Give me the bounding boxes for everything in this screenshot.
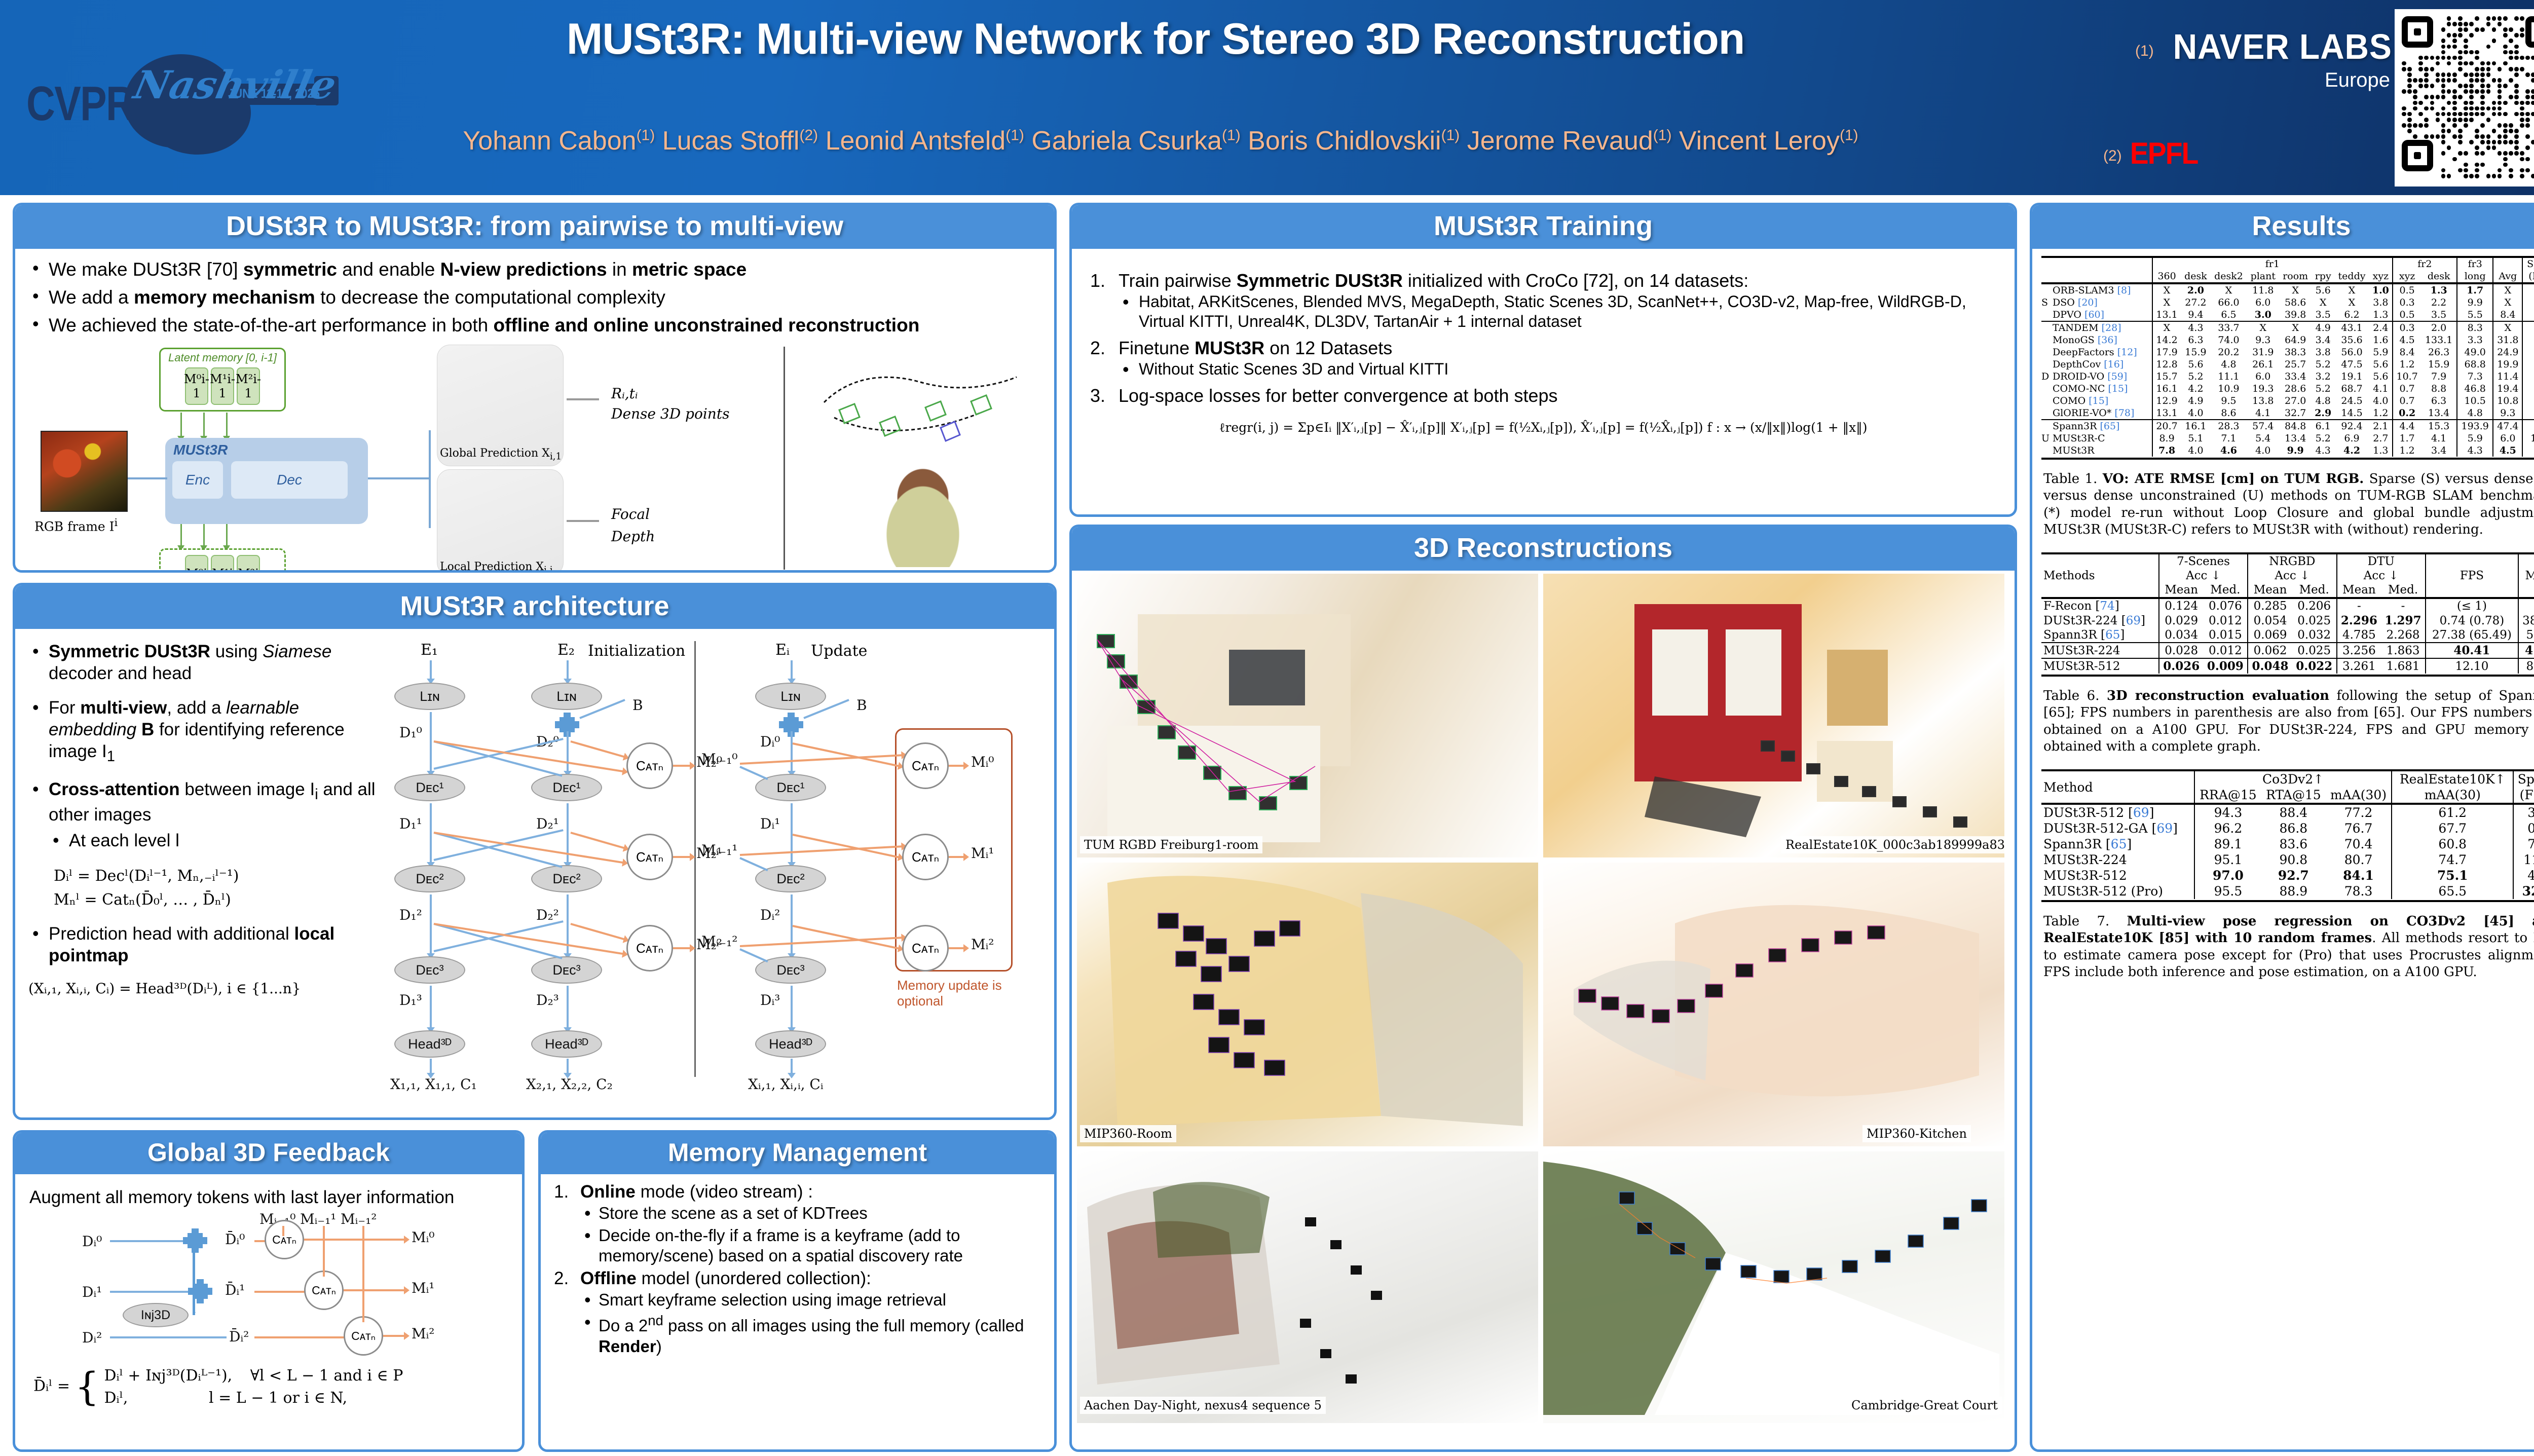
column-header: long xyxy=(2457,270,2493,283)
label-d-in-1: Dᵢ¹ xyxy=(82,1284,102,1300)
label-embedding-b: B xyxy=(632,697,643,714)
column-header-method: Method xyxy=(2041,770,2194,804)
memory-vertical-feed-2 xyxy=(362,1226,364,1322)
group-tag xyxy=(2041,358,2049,370)
sub-list: Without Static Scenes 3D and Virtual KIT… xyxy=(1119,359,1999,379)
table-cell: 11.1 xyxy=(2522,432,2534,444)
table-cell: 6.0 xyxy=(2247,296,2279,309)
local-pred-out-arrow xyxy=(567,520,599,522)
table-cell: 19.9 xyxy=(2493,358,2522,370)
table-cell: 3.2 xyxy=(2513,804,2534,820)
memory-out-arrow xyxy=(226,524,228,546)
group-tag: D xyxy=(2041,370,2049,383)
label-m-in-2: Mᵢ₋₁² xyxy=(341,1211,377,1227)
edge-head-out xyxy=(791,1059,793,1074)
column-header: (FPS) xyxy=(2522,270,2534,283)
table-cell: 4.0 xyxy=(2247,444,2279,457)
column-header: rpy xyxy=(2312,270,2334,283)
memory-cell: M¹i xyxy=(211,555,234,573)
affiliation-1-marker: (1) xyxy=(2135,43,2154,59)
list-item: We add a memory mechanism to decrease th… xyxy=(28,286,1041,309)
panel-must3r-architecture: MUSt3R architecture Symmetric DUSt3R usi… xyxy=(13,583,1057,1120)
subcol-header: RRA@15 xyxy=(2194,787,2261,804)
panel-title-global-feedback: Global 3D Feedback xyxy=(15,1133,522,1174)
architecture-diagram: E₁ E₂ Initialization Eᵢ Update Lɪɴ D₁⁰ D… xyxy=(390,641,1044,1092)
table-cell: 0.5 xyxy=(2393,283,2421,296)
list-item: Decide on-the-fly if a frame is a keyfra… xyxy=(580,1225,1043,1266)
label-mi-1-0: Mᵢ₋₁⁰ xyxy=(701,751,738,767)
table-cell: 90.8 xyxy=(2261,852,2326,868)
table-cell: 0.025 xyxy=(2292,643,2337,658)
table-cell: 13.8 xyxy=(2247,395,2279,407)
list-item: 3.Log-space losses for better convergenc… xyxy=(1087,384,1999,407)
table-cell: 4.785 xyxy=(2337,628,2381,643)
group-tag xyxy=(2041,283,2049,296)
list-item: Symmetric DUSt3R using Siamese decoder a… xyxy=(28,641,383,684)
label-d2-1: D₂¹ xyxy=(536,815,559,832)
table-cell: 2.1 xyxy=(2369,420,2393,432)
subcol-header: Mean xyxy=(2337,583,2381,598)
panel-dust3r-to-must3r: DUSt3R to MUSt3R: from pairwise to multi… xyxy=(13,203,1057,573)
table-cell: 56.0 xyxy=(2334,346,2369,358)
method-name: GlORIE-VO* [78] xyxy=(2049,407,2152,420)
memory-to-dec-edge xyxy=(739,766,768,780)
equation-case-1: Dᵢˡ + Iɴj³ᴰ(Dᵢᴸ⁻¹), xyxy=(104,1367,233,1385)
table-cell: - xyxy=(2522,283,2534,296)
dust3r-bullet-list: We make DUSt3R [70] symmetric and enable… xyxy=(28,258,1041,337)
table-cell: 0.076 xyxy=(2204,598,2248,613)
memory-cell: M²i xyxy=(237,555,260,573)
method-name: DeepFactors [12] xyxy=(2049,346,2152,358)
architecture-head-bullet: Prediction head with additional local po… xyxy=(28,923,383,966)
table-cell: 80.7 xyxy=(2326,852,2392,868)
edge-d1 xyxy=(110,1291,199,1293)
node-inj3d: Iɴj3D xyxy=(123,1303,189,1327)
table-cell: 38.3 xyxy=(2279,346,2312,358)
table-cell: 4.4 xyxy=(2393,420,2421,432)
table-7-pose-regression: MethodCo3Dv2↑RealEstate10K↑SpeedRRA@15RT… xyxy=(2041,769,2534,902)
speed-header-bottom: (FPS) xyxy=(2513,787,2534,804)
table-cell: 31.8 xyxy=(2493,334,2522,346)
affiliation-2-marker: (2) xyxy=(2103,147,2122,164)
output-col1: X₁,₁, X₁,₁, C₁ xyxy=(390,1076,477,1093)
table-cell: - xyxy=(2522,395,2534,407)
table-cell: 4.1 xyxy=(2513,868,2534,883)
table-cell: 2.296 xyxy=(2337,613,2381,628)
table-cell: X xyxy=(2312,296,2334,309)
group-tag xyxy=(2041,407,2049,420)
table-cell: 2.9 xyxy=(2312,407,2334,420)
method-name: MonoGS [36] xyxy=(2049,334,2152,346)
table-cell: 2.7 xyxy=(2369,432,2393,444)
node-dec3: Dᴇᴄ³ xyxy=(394,956,465,984)
table-cell: 0.048 xyxy=(2248,658,2292,674)
memory-edge xyxy=(570,923,625,941)
edge-catn0-out xyxy=(304,1239,405,1241)
group-tag: S xyxy=(2041,296,2049,309)
table-cell: 10.9 xyxy=(2210,383,2247,395)
table-cell: 61.2 xyxy=(2392,804,2513,820)
table-cell: 31.9 xyxy=(2247,346,2279,358)
table-row: UMUSt3R-C 8.95.17.15.413.45.26.92.71.74.… xyxy=(2041,432,2534,444)
label-di-1: Dᵢ¹ xyxy=(760,815,780,832)
table-cell: 66.0 xyxy=(2210,296,2247,309)
table-cell: 0.009 xyxy=(2204,658,2248,674)
method-name: Spann3R [65] xyxy=(2041,628,2159,643)
table-1-caption: Table 1. VO: ATE RMSE [cm] on TUM RGB. S… xyxy=(2043,471,2534,538)
qr-finder-pattern xyxy=(2402,16,2433,48)
table-cell: 4.2 xyxy=(2334,444,2369,457)
memory-cell: M¹i-1 xyxy=(211,367,234,405)
reconstruction-image xyxy=(1543,1151,2004,1423)
list-item: Without Static Scenes 3D and Virtual KIT… xyxy=(1119,359,1999,379)
table-cell: 12.9 xyxy=(2152,395,2181,407)
method-name: DUSt3R-224 [69] xyxy=(2041,613,2159,628)
table-cell: 0.3 xyxy=(2393,321,2421,334)
column-header: desk xyxy=(2421,270,2456,283)
subcol-header: mAA(30) xyxy=(2326,787,2392,804)
table-cell: 95.1 xyxy=(2194,852,2261,868)
table-cell: 11.4 xyxy=(2493,370,2522,383)
table-cell: 0.034 xyxy=(2159,628,2204,643)
panel-3d-reconstructions: 3D Reconstructions TUM RGBD xyxy=(1069,525,2017,1452)
table-row: MUSt3R-51297.092.784.175.14.1 xyxy=(2041,868,2534,883)
table-cell: 65.5 xyxy=(2392,883,2513,899)
reconstruction-image xyxy=(1077,574,1538,857)
panel-title-dust3r: DUSt3R to MUSt3R: from pairwise to multi… xyxy=(15,205,1054,249)
label-embedding-b: B xyxy=(856,697,867,714)
node-lin: Lɪɴ xyxy=(531,683,602,710)
table-cell: 5.6 xyxy=(2312,283,2334,296)
method-name: DPVO [60] xyxy=(2049,309,2152,321)
table-cell: X xyxy=(2152,296,2181,309)
subcol-header: Med. xyxy=(2292,583,2337,598)
table-cell: 7.9 xyxy=(2421,370,2456,383)
label-m-out-1: Mᵢ¹ xyxy=(412,1280,435,1296)
table-cell: X xyxy=(2210,283,2247,296)
table-cell: X xyxy=(2247,321,2279,334)
must3r-model-label: MUSt3R xyxy=(165,438,368,458)
label-d1-1: D₁¹ xyxy=(399,815,422,832)
table-cell: 0.022 xyxy=(2292,658,2337,674)
cross-edge xyxy=(434,920,564,952)
table-row: MUSt3R-22495.190.880.774.711.7 xyxy=(2041,852,2534,868)
sub-list: Smart keyframe selection using image ret… xyxy=(580,1290,1043,1357)
table-cell: 5.9 xyxy=(2369,346,2393,358)
output-col2: X₂,₁, X₂,₂, C₂ xyxy=(526,1076,613,1093)
table-cell: 4.5 xyxy=(2393,334,2421,346)
subcol-header: RTA@15 xyxy=(2261,787,2326,804)
equation-condition-2: l = L − 1 or i ∈ N, xyxy=(209,1389,347,1407)
table-cell: 6.1 xyxy=(2312,420,2334,432)
method-name: MUSt3R-512 xyxy=(2041,658,2159,674)
table-cell: 0.032 xyxy=(2292,628,2337,643)
list-item: We make DUSt3R [70] symmetric and enable… xyxy=(28,258,1041,281)
subcol-header: mAA(30) xyxy=(2392,787,2513,804)
table-cell: 57.4 xyxy=(2247,420,2279,432)
table-cell: 0.7 xyxy=(2393,395,2421,407)
epfl-logo: (2) EPFL xyxy=(2103,136,2392,171)
table-cell: 5.9 xyxy=(2457,432,2493,444)
label-d-in-0: Dᵢ⁰ xyxy=(82,1233,102,1250)
column-title-initialization: Initialization xyxy=(588,642,685,660)
table-cell: 27.38 (65.49) xyxy=(2426,628,2518,643)
table-cell: 38.1G xyxy=(2518,613,2534,628)
table-cell: 40.41 xyxy=(2426,643,2518,658)
edge-lin-dec1 xyxy=(567,731,569,772)
table-cell: - xyxy=(2522,370,2534,383)
reconstruction-image-grid: TUM RGBD Freiburg1-room RealEstate10K_00… xyxy=(1072,571,2015,1427)
table-cell: 26.3 xyxy=(2421,346,2456,358)
table-cell: 96.2 xyxy=(2194,820,2261,836)
table-cell: 64.9 xyxy=(2279,334,2312,346)
table-6-3d-reconstruction: 7-ScenesNRGBDDTUFPSMemMethodsAcc ↓Acc ↓A… xyxy=(2041,552,2534,677)
table-cell: 1.3 xyxy=(2369,309,2393,321)
table-cell: 6.0 xyxy=(2493,432,2522,444)
label-d1-2: D₁² xyxy=(399,907,422,923)
table-cell: - xyxy=(2522,358,2534,370)
list-item: Cross-attention between image Ii and all… xyxy=(28,779,383,826)
poster-header: CVPR Nashville JUNE 11-15, 2025 MUSt3R: … xyxy=(0,0,2534,195)
architecture-text-column: Symmetric DUSt3R using Siamese decoder a… xyxy=(28,641,383,997)
node-dec3: Dᴇᴄ³ xyxy=(531,956,602,984)
table-cell: 32.9 xyxy=(2513,883,2534,899)
memory-cell: M²i-1 xyxy=(237,367,260,405)
subcol-header: Med. xyxy=(2204,583,2248,598)
group-tag: U xyxy=(2041,432,2049,444)
table-cell: 6.0 xyxy=(2247,370,2279,383)
table-cell: 8.4 xyxy=(2522,444,2534,457)
memory-cell: M⁰i xyxy=(185,555,208,573)
catn-out-edge xyxy=(673,856,691,858)
table-cell: 19.4 xyxy=(2493,383,2522,395)
table-cell: 8.4 xyxy=(2393,346,2421,358)
reconstruction-caption: RealEstate10K_000c3ab189999a83 xyxy=(1781,836,2009,853)
edge-dec2-dec3 xyxy=(430,894,432,954)
global-prediction-caption: Global Prediction Xi,1 xyxy=(440,447,562,462)
table-row: ORB-SLAM3 [8]X2.0X11.8X5.6X1.00.51.31.7X… xyxy=(2041,283,2534,296)
table-cell: 3.4 xyxy=(2312,334,2334,346)
table-cell: 15.9 xyxy=(2421,358,2456,370)
subcol-header: Mean xyxy=(2248,583,2292,598)
table-cell: 68.7 xyxy=(2334,383,2369,395)
table-cell: 8.9 xyxy=(2152,432,2181,444)
group-header-fr1: fr1 xyxy=(2152,257,2393,270)
table-row: SDSO [20]X27.266.06.058.6XX3.80.32.29.9X… xyxy=(2041,296,2534,309)
reconstruction-caption: MIP360-Room xyxy=(1080,1125,1176,1142)
output-col3: Xᵢ,₁, Xᵢ,ᵢ, Cᵢ xyxy=(748,1076,823,1093)
table-cell: 4.5 xyxy=(2493,444,2522,457)
table-header-row: MethodCo3Dv2↑RealEstate10K↑Speed xyxy=(2041,770,2534,787)
edge-d2 xyxy=(110,1336,227,1338)
catn-out-edge xyxy=(673,765,691,767)
table-cell: 1.7 xyxy=(2457,283,2493,296)
table-cell: 47.5 xyxy=(2334,358,2369,370)
epfl-wordmark: EPFL xyxy=(2130,136,2198,171)
cross-edge xyxy=(434,738,564,770)
table-cell: 1.2 xyxy=(2369,407,2393,420)
table-cell: 6.5 xyxy=(2210,309,2247,321)
panel-title-architecture: MUSt3R architecture xyxy=(15,585,1054,629)
table-cell: 1.863 xyxy=(2381,643,2426,658)
group-header: NRGBD xyxy=(2248,553,2336,569)
node-lin: Lɪɴ xyxy=(394,683,465,710)
node-lin: Lɪɴ xyxy=(755,683,826,710)
qr-code[interactable] xyxy=(2395,9,2534,186)
catn-out-edge xyxy=(949,765,965,767)
table-row: GlORIE-VO* [78]13.14.08.64.132.72.914.51… xyxy=(2041,407,2534,420)
table-cell: 16.1 xyxy=(2152,383,2181,395)
memory-cell: M⁰i-1 xyxy=(185,367,208,405)
edge-dbar1-catn xyxy=(254,1291,310,1293)
method-name: TANDEM [28] xyxy=(2049,321,2152,334)
memory-vertical-feed-0 xyxy=(282,1226,284,1236)
table-cell: 3.8 xyxy=(2312,346,2334,358)
decoder-block: Dec xyxy=(231,461,348,499)
table-cell: 0.74 (0.78) xyxy=(2426,613,2518,628)
group-tag xyxy=(2041,346,2049,358)
table-cell: 10.8 xyxy=(2493,395,2522,407)
table-cell: 6.9 xyxy=(2334,432,2369,444)
label-dbar-1: D̄ᵢ¹ xyxy=(225,1282,245,1298)
table-cell: 4.9 xyxy=(2312,321,2334,334)
table-cell: 10.7 xyxy=(2393,370,2421,383)
label-d2-3: D₂³ xyxy=(536,992,559,1009)
table-cell: 9.3 xyxy=(2247,334,2279,346)
method-name: COMO [15] xyxy=(2049,395,2152,407)
table-cell: 67.7 xyxy=(2392,820,2513,836)
equation-brace: { xyxy=(75,1371,99,1402)
node-head3d: Head³ᴰ xyxy=(755,1030,826,1058)
table-cell: 58.6 xyxy=(2279,296,2312,309)
table-cell: 94.3 xyxy=(2194,804,2261,820)
group-tag xyxy=(2041,395,2049,407)
edge-catn2-out xyxy=(383,1335,405,1337)
table-cell: 68.8 xyxy=(2457,358,2493,370)
table-cell: 0.206 xyxy=(2292,598,2337,613)
table-cell: 1.0 xyxy=(2369,283,2393,296)
table-cell: 1.7 xyxy=(2393,432,2421,444)
table-cell: 1.2 xyxy=(2393,444,2421,457)
table-cell: 2.4 xyxy=(2369,321,2393,334)
table-cell: 0.062 xyxy=(2248,643,2292,658)
memory-out-arrow xyxy=(180,524,182,546)
table-cell: 4.0 xyxy=(2181,407,2210,420)
table-cell: 24.9 xyxy=(2493,346,2522,358)
table-cell: 13.4 xyxy=(2279,432,2312,444)
list-item: Habitat, ARKitScenes, Blended MVS, MegaD… xyxy=(1119,292,1999,331)
table-cell: 9.9 xyxy=(2279,444,2312,457)
panel-title-reconstructions: 3D Reconstructions xyxy=(1072,527,2015,571)
rgb-frame-thumbnail xyxy=(41,431,128,512)
table-cell: 60.8 xyxy=(2392,836,2513,852)
table-bottom-rule xyxy=(2041,674,2534,676)
table-cell: 11.1 xyxy=(2210,370,2247,383)
reconstruction-caption: MIP360-Kitchen xyxy=(1862,1125,1971,1142)
table-cell: 1.3 xyxy=(2421,283,2456,296)
method-name: COMO-NC [15] xyxy=(2049,383,2152,395)
table-cell: 20.2 xyxy=(2210,346,2247,358)
table-cell: 4.1G xyxy=(2518,643,2534,658)
list-item: We achieved the state-of-the-art perform… xyxy=(28,314,1041,337)
method-name: DROID-VO [59] xyxy=(2049,370,2152,383)
table-cell: 76.7 xyxy=(2326,820,2392,836)
table-cell: 28.6 xyxy=(2279,383,2312,395)
table-cell: 12.10 xyxy=(2426,658,2518,674)
table-cell: 19.3 xyxy=(2247,383,2279,395)
table-cell: 0.5 xyxy=(2393,309,2421,321)
table-cell: 25.7 xyxy=(2279,358,2312,370)
label-di-3: Dᵢ³ xyxy=(760,992,780,1009)
table-cell: 3.2 xyxy=(2312,370,2334,383)
table-row: DPVO [60]13.19.46.53.039.83.56.21.30.53.… xyxy=(2041,309,2534,321)
sub-list: Habitat, ARKitScenes, Blended MVS, MegaD… xyxy=(1119,292,1999,331)
table-cell: 5.0G xyxy=(2518,628,2534,643)
local-prediction-box xyxy=(437,469,564,573)
table-cell: 17.9 xyxy=(2152,346,2181,358)
table-cell: 4.1 xyxy=(2247,407,2279,420)
global-feedback-subtitle: Augment all memory tokens with last laye… xyxy=(26,1181,511,1208)
method-name: MUSt3R-C xyxy=(2049,432,2152,444)
table-cell: 5.1 xyxy=(2181,432,2210,444)
method-name: DUSt3R-512 [69] xyxy=(2041,804,2194,820)
table-cell: 0.7 xyxy=(2393,383,2421,395)
edge-head-out xyxy=(430,1059,432,1074)
table-cell: 4.3 xyxy=(2181,321,2210,334)
node-catn: Cᴀᴛₙ xyxy=(626,925,673,972)
branch-line-up xyxy=(429,430,431,478)
table-cell: 0.012 xyxy=(2204,613,2248,628)
table-cell: X xyxy=(2152,283,2181,296)
table-cell: - xyxy=(2522,407,2534,420)
table-cell: 46.8 xyxy=(2457,383,2493,395)
table-cell: 83.6 xyxy=(2261,836,2326,852)
column-header-e1: E₁ xyxy=(421,641,438,659)
column-header: desk xyxy=(2181,270,2210,283)
column-header: xyz xyxy=(2393,270,2421,283)
table-cell: 75.1 xyxy=(2392,868,2513,883)
table-cell: 1.2 xyxy=(2393,358,2421,370)
subcol-header: Mean xyxy=(2159,583,2204,598)
table-cell: 8.1G xyxy=(2518,658,2534,674)
method-name: Spann3R [65] xyxy=(2041,836,2194,852)
table-cell: 12.8 xyxy=(2152,358,2181,370)
table-cell: 28.3 xyxy=(2210,420,2247,432)
naver-labs-logo: (1) NAVER LABS Europe xyxy=(2058,26,2392,92)
memory-in-edge xyxy=(740,754,903,765)
edge-lin-dec1 xyxy=(791,731,793,772)
table-cell: 2.0 xyxy=(2421,321,2456,334)
node-dec1: Dᴇᴄ¹ xyxy=(394,774,465,801)
global-pred-out-arrow xyxy=(567,398,599,400)
table-cell: 8.3 xyxy=(2457,321,2493,334)
table-cell: 1.297 xyxy=(2381,613,2426,628)
memory-management-list: 1.Online mode (video stream) :Store the … xyxy=(552,1181,1043,1357)
memory-to-dec-edge xyxy=(739,948,768,962)
panel-must3r-training: MUSt3R Training 1.Train pairwise Symmetr… xyxy=(1069,203,2017,517)
panel-title-results: Results xyxy=(2032,205,2534,249)
node-catn: Cᴀᴛₙ xyxy=(902,925,949,972)
memory-edge xyxy=(570,832,625,849)
table-cell: 0.025 xyxy=(2292,613,2337,628)
conference-dates: JUNE 11-15, 2025 xyxy=(228,87,320,101)
table-cell: 7.3 xyxy=(2457,370,2493,383)
table-cell: 84.8 xyxy=(2279,420,2312,432)
label-di-2: Dᵢ² xyxy=(760,907,780,923)
camera-trajectory-illustration xyxy=(819,362,1022,448)
node-catn: Cᴀᴛₙ xyxy=(626,742,673,789)
table-bottom-rule xyxy=(2041,899,2534,901)
